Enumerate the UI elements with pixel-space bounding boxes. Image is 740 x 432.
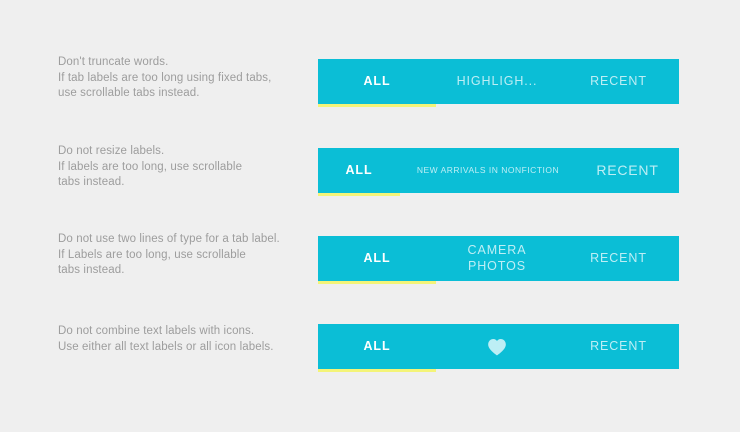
tab-new-arrivals-in-nonfiction[interactable]: NEW ARRIVALS IN NONFICTION xyxy=(400,148,576,193)
tab-highlights[interactable]: HIGHLIGH... xyxy=(436,59,558,104)
example-description: Don't truncate words. If tab labels are … xyxy=(58,55,308,102)
active-tab-indicator xyxy=(318,281,436,284)
tab-recent[interactable]: RECENT xyxy=(576,148,679,193)
tab-label: RECENT xyxy=(596,162,658,178)
tab-recent[interactable]: RECENT xyxy=(558,324,679,369)
tab-label: RECENT xyxy=(590,74,647,88)
tab-all[interactable]: ALL xyxy=(318,324,436,369)
tab-favorites[interactable] xyxy=(436,324,558,369)
tab-label: ALL xyxy=(364,251,391,265)
example-description: Do not resize labels. If labels are too … xyxy=(58,144,308,191)
tab-recent[interactable]: RECENT xyxy=(558,236,679,281)
example-row-resize-labels: Do not resize labels. If labels are too … xyxy=(0,137,740,199)
tab-bar[interactable]: ALL RECENT xyxy=(318,324,679,369)
tab-all[interactable]: ALL xyxy=(318,59,436,104)
tab-label: ALL xyxy=(364,74,391,88)
active-tab-indicator xyxy=(318,104,436,107)
tab-label: ALL xyxy=(364,339,391,353)
tab-label: RECENT xyxy=(590,251,647,265)
tab-label: ALL xyxy=(346,163,373,177)
tab-camera-photos[interactable]: CAMERA PHOTOS xyxy=(436,236,558,281)
example-row-truncate-words: Don't truncate words. If tab labels are … xyxy=(0,48,740,110)
tab-label: CAMERA PHOTOS xyxy=(468,243,527,274)
tab-label: NEW ARRIVALS IN NONFICTION xyxy=(417,166,559,176)
tab-recent[interactable]: RECENT xyxy=(558,59,679,104)
tab-all[interactable]: ALL xyxy=(318,148,400,193)
tab-label: HIGHLIGH... xyxy=(457,74,538,88)
tab-label: RECENT xyxy=(590,339,647,353)
tab-all[interactable]: ALL xyxy=(318,236,436,281)
tab-bar[interactable]: ALL HIGHLIGH... RECENT xyxy=(318,59,679,104)
tab-bar[interactable]: ALL CAMERA PHOTOS RECENT xyxy=(318,236,679,281)
guidelines-board: Don't truncate words. If tab labels are … xyxy=(0,0,740,432)
example-row-two-line-label: Do not use two lines of type for a tab l… xyxy=(0,225,740,287)
heart-icon xyxy=(487,338,507,356)
active-tab-indicator xyxy=(318,369,436,372)
example-description: Do not combine text labels with icons. U… xyxy=(58,324,308,355)
tab-bar[interactable]: ALL NEW ARRIVALS IN NONFICTION RECENT xyxy=(318,148,679,193)
example-description: Do not use two lines of type for a tab l… xyxy=(58,232,308,279)
example-row-text-with-icons: Do not combine text labels with icons. U… xyxy=(0,313,740,375)
active-tab-indicator xyxy=(318,193,400,196)
